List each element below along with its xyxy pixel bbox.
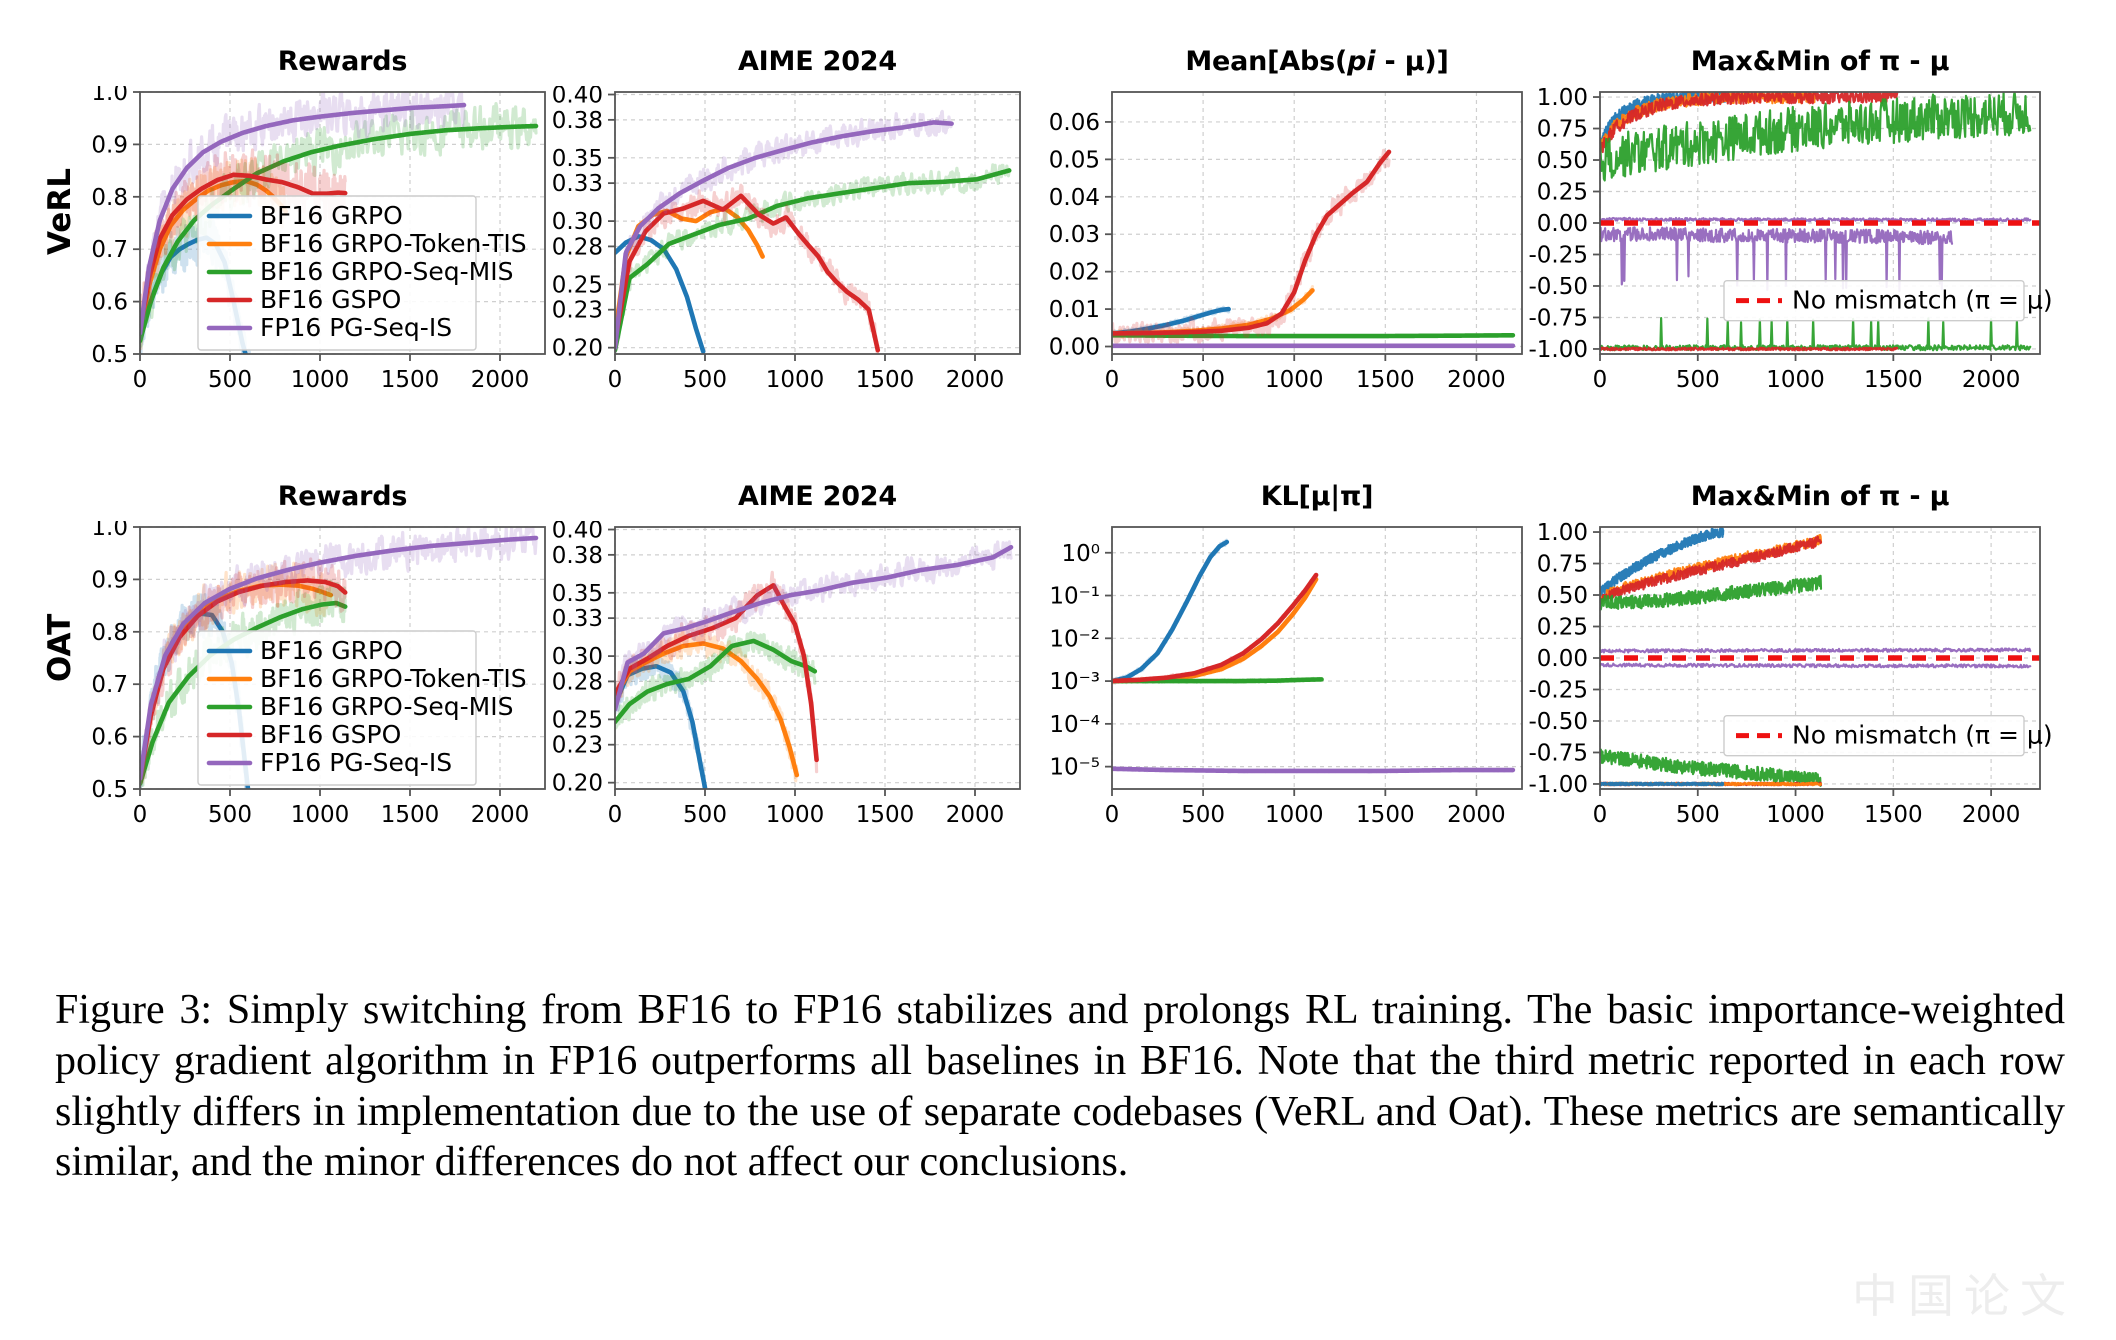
chart-title: Mean[Abs(pi - μ)] (1112, 46, 1522, 77)
legend-no-mismatch: No mismatch (π = μ) (1724, 281, 2053, 321)
legend-item-label: FP16 PG-Seq-IS (260, 748, 452, 777)
chart-title: Max&Min of π - μ (1600, 46, 2040, 77)
x-tick-label: 0 (608, 802, 623, 828)
x-tick-label: 1000 (1766, 802, 1825, 828)
y-tick-label: 0.25 (1537, 180, 1588, 206)
legend-item-label: BF16 GRPO (260, 201, 403, 230)
y-tick-label: 10⁻⁴ (1049, 712, 1100, 738)
y-tick-label: 10⁻⁵ (1049, 755, 1100, 781)
y-tick-label: 0.30 (552, 209, 603, 235)
x-tick-label: 1000 (291, 367, 350, 393)
y-tick-label: -1.00 (1528, 772, 1588, 798)
y-tick-label: 0.75 (1537, 552, 1588, 578)
legend-main: BF16 GRPOBF16 GRPO-Token-TISBF16 GRPO-Se… (198, 196, 527, 350)
x-tick-label: 2000 (1962, 802, 2021, 828)
x-tick-label: 2000 (1447, 367, 1506, 393)
chart-oat-rewards: Rewards0.50.60.70.80.91.0050010001500200… (45, 481, 590, 853)
y-tick-label: 0.23 (552, 298, 603, 324)
chart-verl-maxmin: Max&Min of π - μ-1.00-0.75-0.50-0.250.00… (1505, 46, 2085, 418)
gridlines (1112, 527, 1522, 789)
y-tick-label: -0.50 (1528, 709, 1588, 735)
chart-oat-kl: KL[μ|π]10⁻⁵10⁻⁴10⁻³10⁻²10⁻¹10⁰0500100015… (1017, 481, 1567, 853)
y-tick-label: 0.04 (1049, 185, 1100, 211)
y-tick-label: 0.8 (91, 620, 128, 646)
legend-item-label: BF16 GSPO (260, 720, 401, 749)
y-tick-label: 0.05 (1049, 147, 1100, 173)
x-tick-label: 1000 (766, 367, 825, 393)
y-tick-label: 10⁻² (1049, 626, 1100, 652)
y-tick-label: 0.6 (91, 290, 128, 316)
y-tick-label: -0.50 (1528, 274, 1588, 300)
y-tick-label: 0.20 (552, 771, 603, 797)
x-tick-label: 0 (1593, 802, 1608, 828)
x-tick-label: 500 (1676, 802, 1720, 828)
y-tick-label: 0.40 (552, 86, 603, 109)
x-tick-label: 1000 (766, 802, 825, 828)
y-tick-label: 0.9 (91, 567, 128, 593)
y-tick-label: 0.33 (552, 171, 603, 197)
legend-item-label: BF16 GRPO-Token-TIS (260, 664, 527, 693)
x-tick-label: 500 (1676, 367, 1720, 393)
chart-title: AIME 2024 (615, 481, 1020, 512)
legend-item-label: No mismatch (π = μ) (1792, 721, 2053, 750)
legend-item-label: No mismatch (π = μ) (1792, 286, 2053, 315)
y-tick-label: 1.0 (91, 521, 128, 541)
series-group (615, 542, 1011, 792)
x-tick-label: 2000 (1447, 802, 1506, 828)
y-tick-label: -0.75 (1528, 740, 1588, 766)
figure-caption: Figure 3: Simply switching from BF16 to … (55, 985, 2065, 1188)
y-tick-label: 0.50 (1537, 148, 1588, 174)
chart-title: AIME 2024 (615, 46, 1020, 77)
x-tick-label: 0 (1105, 367, 1120, 393)
x-tick-label: 0 (1105, 802, 1120, 828)
x-tick-label: 2000 (946, 802, 1005, 828)
x-tick-label: 0 (1593, 367, 1608, 393)
chart-verl-aime: AIME 20240.200.230.250.280.300.330.350.3… (520, 46, 1065, 418)
x-tick-label: 0 (133, 367, 148, 393)
y-tick-label: 10⁻³ (1049, 669, 1100, 695)
y-tick-label: 0.28 (552, 234, 603, 260)
y-tick-label: 0.03 (1049, 222, 1100, 248)
x-tick-label: 1500 (1864, 802, 1923, 828)
y-tick-label: 0.9 (91, 132, 128, 158)
y-tick-label: 0.25 (552, 707, 603, 733)
chart-title: Rewards (140, 46, 545, 77)
x-tick-label: 1500 (381, 802, 440, 828)
x-tick-label: 500 (208, 367, 252, 393)
y-tick-label: -0.25 (1528, 677, 1588, 703)
y-tick-label: 1.00 (1537, 521, 1588, 546)
x-tick-label: 2000 (946, 367, 1005, 393)
x-tick-label: 1500 (1864, 367, 1923, 393)
y-tick-label: 0.7 (91, 237, 128, 263)
y-tick-label: 0.23 (552, 733, 603, 759)
y-tick-label: 0.8 (91, 185, 128, 211)
y-tick-label: 0.38 (552, 108, 603, 134)
legend-item-label: BF16 GRPO-Seq-MIS (260, 692, 513, 721)
x-tick-label: 1500 (1356, 367, 1415, 393)
x-tick-label: 1500 (381, 367, 440, 393)
y-tick-label: 0.00 (1049, 335, 1100, 361)
chart-verl-meanabs: Mean[Abs(pi - μ)]0.000.010.020.030.040.0… (1017, 46, 1567, 418)
y-tick-label: -0.75 (1528, 305, 1588, 331)
y-tick-label: 0.7 (91, 672, 128, 698)
y-tick-label: 0.75 (1537, 117, 1588, 143)
x-tick-label: 500 (1181, 367, 1225, 393)
series-group (615, 111, 1009, 355)
y-tick-label: 0.5 (91, 342, 128, 368)
series-group (1112, 540, 1513, 772)
chart-title: Max&Min of π - μ (1600, 481, 2040, 512)
legend-item-label: FP16 PG-Seq-IS (260, 313, 452, 342)
y-tick-label: 0.01 (1049, 297, 1100, 323)
y-tick-label: 0.50 (1537, 583, 1588, 609)
y-tick-label: 0.38 (552, 543, 603, 569)
x-tick-label: 1500 (1356, 802, 1415, 828)
y-tick-label: 0.00 (1537, 646, 1588, 672)
y-tick-label: 0.02 (1049, 260, 1100, 286)
chart-oat-aime: AIME 20240.200.230.250.280.300.330.350.3… (520, 481, 1065, 853)
legend-no-mismatch: No mismatch (π = μ) (1724, 716, 2053, 756)
legend-item-label: BF16 GRPO-Token-TIS (260, 229, 527, 258)
x-tick-label: 500 (208, 802, 252, 828)
chart-oat-maxmin: Max&Min of π - μ-1.00-0.75-0.50-0.250.00… (1505, 481, 2085, 853)
x-tick-label: 1000 (1766, 367, 1825, 393)
y-tick-label: 0.33 (552, 606, 603, 632)
x-tick-label: 500 (683, 367, 727, 393)
y-tick-label: 0.5 (91, 777, 128, 803)
panel-grid: VeRLOATRewards0.50.60.70.80.91.005001000… (0, 0, 2116, 965)
x-tick-label: 0 (133, 802, 148, 828)
y-tick-label: 0.20 (552, 336, 603, 362)
legend-main: BF16 GRPOBF16 GRPO-Token-TISBF16 GRPO-Se… (198, 631, 527, 785)
x-tick-label: 0 (608, 367, 623, 393)
y-tick-label: 10⁰ (1062, 541, 1101, 567)
legend-item-label: BF16 GRPO (260, 636, 403, 665)
chart-title: KL[μ|π] (1112, 481, 1522, 512)
series-group (1112, 150, 1513, 346)
y-tick-label: 0.35 (552, 581, 603, 607)
x-tick-label: 1000 (1265, 367, 1324, 393)
y-tick-label: 0.28 (552, 669, 603, 695)
y-tick-label: 0.6 (91, 725, 128, 751)
x-tick-label: 1000 (1265, 802, 1324, 828)
y-tick-label: 0.25 (1537, 615, 1588, 641)
figure-3: VeRLOATRewards0.50.60.70.80.91.005001000… (0, 0, 2116, 1340)
x-tick-label: 1000 (291, 802, 350, 828)
y-tick-label: 0.00 (1537, 211, 1588, 237)
watermark: 中国论文 (1852, 1260, 2076, 1326)
y-tick-label: 0.35 (552, 146, 603, 172)
x-tick-label: 500 (683, 802, 727, 828)
x-tick-label: 2000 (1962, 367, 2021, 393)
legend-item-label: BF16 GRPO-Seq-MIS (260, 257, 513, 286)
y-tick-label: -0.25 (1528, 242, 1588, 268)
x-tick-label: 1500 (856, 802, 915, 828)
y-tick-label: 10⁻¹ (1049, 584, 1100, 610)
chart-verl-rewards: Rewards0.50.60.70.80.91.0050010001500200… (45, 46, 590, 418)
legend-item-label: BF16 GSPO (260, 285, 401, 314)
y-tick-label: 0.25 (552, 272, 603, 298)
x-tick-label: 500 (1181, 802, 1225, 828)
y-tick-label: 0.30 (552, 644, 603, 670)
y-tick-label: 1.0 (91, 86, 128, 106)
gridlines (615, 92, 1020, 354)
y-tick-label: 0.06 (1049, 110, 1100, 136)
y-tick-label: 0.40 (552, 521, 603, 544)
y-tick-label: 1.00 (1537, 86, 1588, 111)
x-tick-label: 1500 (856, 367, 915, 393)
chart-title: Rewards (140, 481, 545, 512)
y-tick-label: -1.00 (1528, 337, 1588, 363)
